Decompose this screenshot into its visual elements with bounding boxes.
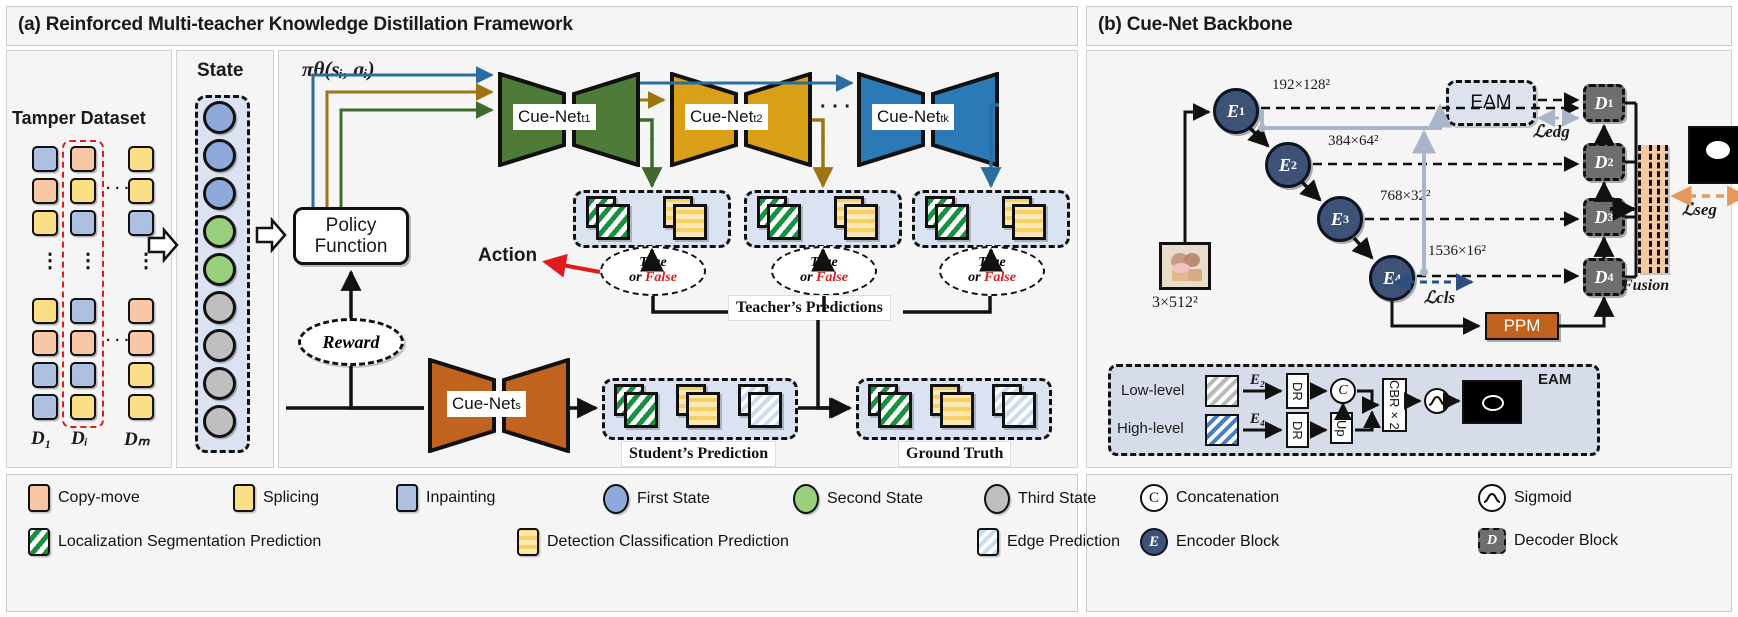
encoder-label: E — [1331, 209, 1343, 230]
dataset-tile — [32, 298, 58, 324]
teacher-ellipsis: · · · — [820, 96, 851, 119]
true-false-node-t1: True or False — [600, 246, 706, 296]
legend-label: Encoder Block — [1176, 533, 1279, 551]
legend-swatch-inpainting — [396, 484, 418, 512]
legend-label: Edge Prediction — [1007, 533, 1120, 551]
loss-cls-label: ℒcls — [1424, 288, 1455, 308]
eam-mask-blob — [1482, 395, 1504, 411]
encoder-sub: 3 — [1343, 212, 1349, 227]
dataset-tile — [32, 394, 58, 420]
encoder-dim-E1: 192×128² — [1272, 77, 1330, 94]
decoder-sub: 2 — [1608, 155, 1614, 170]
policy-function-label-2: Function — [315, 236, 388, 257]
state-circle — [203, 291, 236, 324]
action-label: Action — [478, 245, 537, 267]
policy-formula: πθ(sᵢ, aᵢ) — [302, 57, 375, 82]
fusion-label: Fusion — [1622, 277, 1669, 295]
dataset-tile — [32, 178, 58, 204]
teacher-net-tk-label: Cue-Nettk — [872, 104, 954, 130]
dataset-tile — [32, 146, 58, 172]
encoder-block-E2[interactable]: E2 — [1265, 142, 1311, 188]
eam-cbr-block: CBR×2 — [1382, 378, 1407, 432]
legend-label: Localization Segmentation Prediction — [58, 533, 321, 551]
prediction-tile-yellow — [686, 392, 720, 428]
eam-low-level-label: Low-level — [1121, 382, 1184, 399]
dataset-tile — [128, 178, 154, 204]
state-circle — [203, 139, 236, 172]
dataset-tile — [128, 298, 154, 324]
encoder-block-E4[interactable]: E4 — [1369, 255, 1415, 301]
reward-node: Reward — [298, 318, 404, 366]
eam-concatenation-icon: C — [1330, 378, 1356, 404]
encoder-sub: 4 — [1395, 271, 1401, 286]
up-label: Up — [1334, 420, 1349, 437]
legend-item-localization-segmentation-prediction: Localization Segmentation Prediction — [28, 528, 321, 556]
dataset-heading: Tamper Dataset — [12, 108, 146, 129]
teacher-net-t2-label: Cue-Nett2 — [685, 104, 768, 130]
dataset-tile — [70, 210, 96, 236]
legend-swatch-detection — [517, 528, 539, 556]
encoder-sub: 1 — [1239, 104, 1245, 119]
legend-swatch-third-state — [984, 484, 1010, 514]
teacher-label-text: Cue-Net — [518, 107, 581, 127]
legend-item-sigmoid: Sigmoid — [1478, 484, 1572, 512]
state-circle — [203, 329, 236, 362]
legend-label: First State — [637, 490, 710, 508]
legend-swatch-edge — [977, 528, 999, 556]
sigmoid-icon — [1478, 484, 1506, 512]
decoder-block-icon: D — [1478, 528, 1506, 554]
policy-function-box[interactable]: Policy Function — [293, 207, 409, 265]
decoder-label: D — [1595, 152, 1608, 173]
state-circle — [203, 177, 236, 210]
legend-label: Third State — [1018, 490, 1096, 508]
dataset-tile — [32, 362, 58, 388]
student-prediction-label: Student’s Prediction — [621, 441, 776, 467]
dataset-row-ellipsis: · · · — [106, 180, 129, 197]
ground-truth-tile-yellow — [940, 392, 974, 428]
dataset-tile — [70, 146, 96, 172]
decoder-label: D — [1595, 207, 1608, 228]
legend-item-splicing: Splicing — [233, 484, 319, 512]
legend-label: Inpainting — [426, 489, 495, 507]
true-label: True — [810, 256, 837, 271]
teachers-predictions-label: Teacher’s Predictions — [728, 295, 891, 321]
state-circle — [203, 215, 236, 248]
dataset-tile — [32, 330, 58, 356]
decoder-label: D — [1595, 267, 1608, 288]
dataset-row-ellipsis: · · · — [106, 332, 129, 349]
dataset-col-ellipsis: ⋮ — [78, 248, 100, 273]
dataset-tile — [70, 298, 96, 324]
encoder-label: E — [1279, 155, 1291, 176]
or-label: or — [629, 270, 645, 285]
panel-a-title: (a) Reinforced Multi-teacher Knowledge D… — [18, 14, 573, 36]
dataset-tile — [128, 362, 154, 388]
false-label: False — [984, 270, 1016, 285]
prediction-tile-green — [935, 204, 969, 240]
eam-output-mask — [1462, 380, 1522, 424]
prediction-tile-yellow — [1012, 204, 1046, 240]
encoder-sub: 2 — [1291, 158, 1297, 173]
encoder-dim-E2: 384×64² — [1328, 133, 1378, 150]
decoder-block-D3[interactable]: D3 — [1583, 198, 1625, 236]
dataset-col-ellipsis: ⋮ — [40, 248, 62, 273]
true-label: True — [978, 256, 1005, 271]
dataset-tile — [128, 394, 154, 420]
eam-up-block: Up — [1330, 412, 1353, 444]
decoder-sub: 4 — [1608, 270, 1614, 285]
true-false-node-tk: True or False — [939, 246, 1045, 296]
encoder-dim-E4: 1536×16² — [1428, 243, 1486, 260]
dataset-column-label-D1: D₁ — [31, 428, 51, 450]
legend-label: Decoder Block — [1514, 532, 1618, 550]
decoder-block-D4[interactable]: D4 — [1583, 258, 1625, 296]
prediction-tile-green — [624, 392, 658, 428]
encoder-block-E1[interactable]: E1 — [1213, 88, 1259, 134]
ground-truth-tile-green — [878, 392, 912, 428]
diagram-root: (a) Reinforced Multi-teacher Knowledge D… — [0, 0, 1738, 617]
policy-function-label-1: Policy — [315, 215, 388, 236]
encoder-label: E — [1383, 268, 1395, 289]
legend-label: Second State — [827, 490, 923, 508]
dataset-tile — [128, 210, 154, 236]
encoder-label: E — [1227, 101, 1239, 122]
true-false-node-t2: True or False — [771, 246, 877, 296]
prediction-tile-blue — [748, 392, 782, 428]
decoder-sub: 1 — [1608, 96, 1614, 111]
mask-blob — [1706, 141, 1730, 159]
state-circle — [203, 101, 236, 134]
panel-b-title: (b) Cue-Net Backbone — [1098, 14, 1292, 36]
eam-detail-title: EAM — [1538, 371, 1571, 388]
input-image — [1159, 242, 1211, 290]
prediction-tile-yellow — [673, 204, 707, 240]
legend-swatch-second-state — [793, 484, 819, 514]
teacher-label-text: Cue-Net — [877, 107, 940, 127]
dataset-tile — [128, 146, 154, 172]
segmentation-mask-output — [1688, 126, 1738, 184]
dataset-tile — [32, 210, 58, 236]
legend-label: Detection Classification Prediction — [547, 533, 789, 551]
teacher-label-sub: t1 — [581, 113, 590, 125]
dr-label: DR — [1290, 421, 1305, 440]
dataset-col-ellipsis: ⋮ — [136, 248, 158, 273]
legend-label: Copy-move — [58, 489, 140, 507]
legend-item-concatenation: C Concatenation — [1140, 484, 1279, 512]
eam-high-level-label: High-level — [1117, 420, 1184, 437]
dr-label: DR — [1290, 382, 1305, 401]
legend-swatch-first-state — [603, 484, 629, 514]
or-label: or — [968, 270, 984, 285]
legend-label: Splicing — [263, 489, 319, 507]
legend-item-encoder-block: E Encoder Block — [1140, 528, 1279, 556]
input-dim-label: 3×512² — [1152, 294, 1198, 312]
teacher-net-t1-label: Cue-Nett1 — [513, 104, 596, 130]
eam-module[interactable]: EAM — [1446, 80, 1536, 126]
ground-truth-label: Ground Truth — [898, 441, 1011, 467]
eam-e4-label: E₄ — [1250, 411, 1265, 428]
legend-item-detection-classification-prediction: Detection Classification Prediction — [517, 528, 789, 556]
legend-item-inpainting: Inpainting — [396, 484, 495, 512]
false-label: False — [645, 270, 677, 285]
concatenation-icon: C — [1140, 484, 1168, 512]
state-circle — [203, 367, 236, 400]
encoder-block-E3[interactable]: E3 — [1317, 196, 1363, 242]
eam-low-level-feature — [1205, 375, 1239, 407]
prediction-tile-green — [767, 204, 801, 240]
teacher-label-text: Cue-Net — [690, 107, 753, 127]
decoder-sub: 3 — [1608, 210, 1614, 225]
fusion-block — [1638, 145, 1668, 273]
dataset-tile — [70, 330, 96, 356]
student-label-text: Cue-Net — [452, 394, 515, 414]
state-circle — [203, 405, 236, 438]
dataset-tile — [70, 394, 96, 420]
decoder-block-D1[interactable]: D1 — [1583, 84, 1625, 122]
false-label: False — [816, 270, 848, 285]
dataset-tile — [70, 362, 96, 388]
ppm-module[interactable]: PPM — [1485, 312, 1559, 340]
loss-seg-label: ℒseg — [1682, 200, 1717, 220]
prediction-tile-green — [596, 204, 630, 240]
dataset-tile — [70, 178, 96, 204]
legend-swatch-splicing — [233, 484, 255, 512]
dataset-column-label-Di: Dᵢ — [71, 428, 88, 450]
legend-item-decoder-block: D Decoder Block — [1478, 528, 1618, 554]
legend-item-third-state: Third State — [984, 484, 1096, 514]
cbr-label: CBR×2 — [1387, 380, 1402, 430]
encoder-dim-E3: 768×32² — [1380, 188, 1430, 205]
legend-item-copy-move: Copy-move — [28, 484, 140, 512]
teacher-label-sub: t2 — [753, 113, 762, 125]
eam-e2-label: E₂ — [1250, 372, 1265, 389]
legend-item-first-state: First State — [603, 484, 710, 514]
decoder-block-D2[interactable]: D2 — [1583, 143, 1625, 181]
legend-swatch-localization — [28, 528, 50, 556]
eam-dr-block-low: DR — [1286, 373, 1309, 409]
student-label-sub: s — [515, 400, 521, 412]
ground-truth-tile-blue — [1002, 392, 1036, 428]
true-label: True — [639, 256, 666, 271]
legend-item-second-state: Second State — [793, 484, 923, 514]
loss-edge-label: ℒedg — [1533, 122, 1570, 142]
legend-label: Concatenation — [1176, 489, 1279, 507]
decoder-label: D — [1595, 93, 1608, 114]
legend-item-edge-prediction: Edge Prediction — [977, 528, 1120, 556]
teacher-label-sub: tk — [940, 113, 949, 125]
eam-detail-panel — [1108, 364, 1600, 456]
student-net-label: Cue-Nets — [447, 391, 526, 417]
dataset-tile — [128, 330, 154, 356]
legend-swatch-copy-move — [28, 484, 50, 512]
eam-high-level-feature — [1205, 414, 1239, 446]
dataset-column-label-DM: Dₘ — [124, 428, 150, 451]
encoder-block-icon: E — [1140, 528, 1168, 556]
state-circle — [203, 253, 236, 286]
eam-sigmoid-icon — [1424, 388, 1450, 414]
state-heading: State — [197, 60, 243, 82]
eam-dr-block-high: DR — [1286, 412, 1309, 448]
or-label: or — [800, 270, 816, 285]
legend-label: Sigmoid — [1514, 489, 1572, 507]
prediction-tile-yellow — [844, 204, 878, 240]
